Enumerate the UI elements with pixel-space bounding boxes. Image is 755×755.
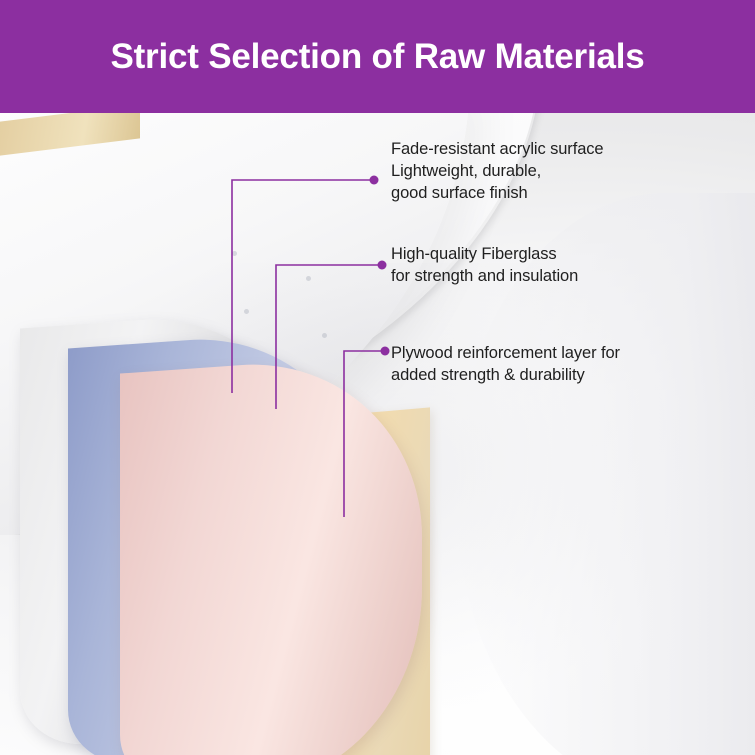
image-canvas: Strict Selection of Raw Materials — [0, 0, 755, 755]
surface-speckle — [244, 309, 249, 314]
surface-speckle — [232, 251, 237, 256]
surface-speckle — [322, 333, 327, 338]
callout-label-fiberglass: High-quality Fiberglass for strength and… — [391, 243, 578, 287]
callout-label-acrylic: Fade-resistant acrylic surface Lightweig… — [391, 138, 604, 204]
surface-speckle — [306, 276, 311, 281]
product-cross-section-illustration: Fade-resistant acrylic surface Lightweig… — [0, 113, 755, 755]
page-title: Strict Selection of Raw Materials — [110, 37, 644, 77]
callout-label-plywood: Plywood reinforcement layer for added st… — [391, 342, 620, 386]
header-banner: Strict Selection of Raw Materials — [0, 0, 755, 113]
